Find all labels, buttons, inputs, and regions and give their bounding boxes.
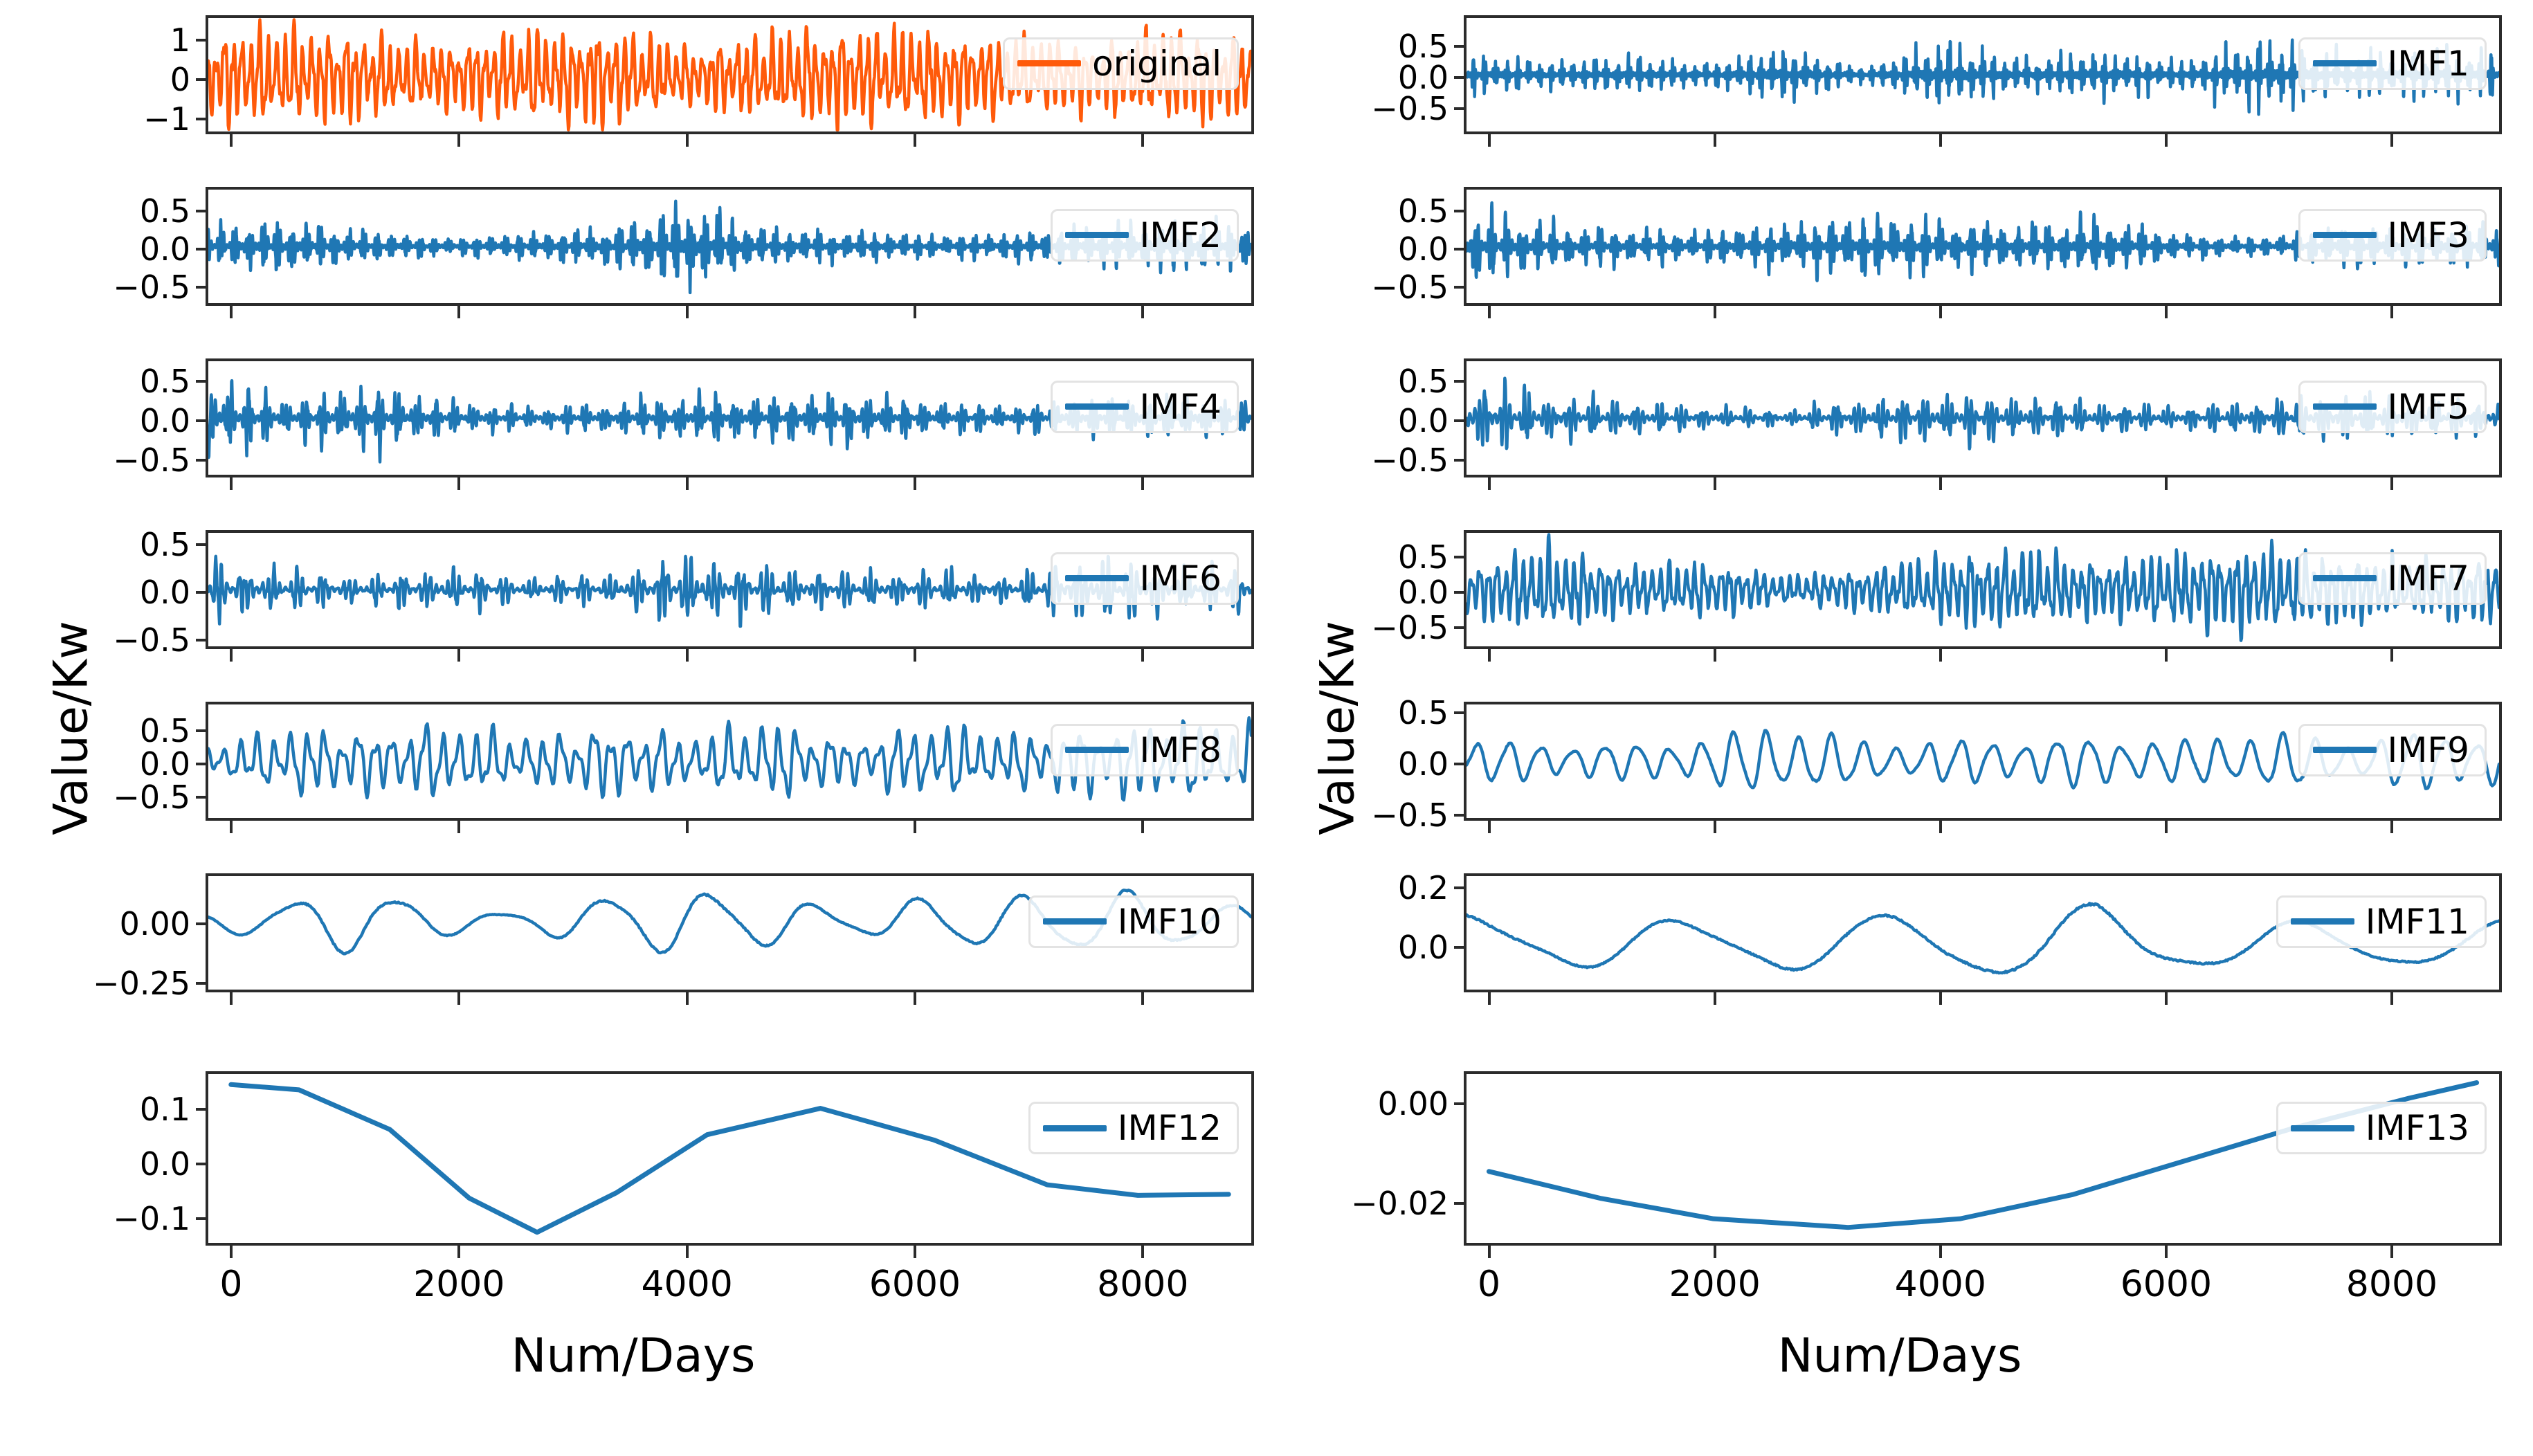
subplot-imf9: −0.50.00.5IMF9 bbox=[1464, 702, 2502, 821]
y-tick-mark bbox=[196, 210, 208, 212]
y-tick-mark bbox=[1454, 556, 1467, 558]
y-tick-mark bbox=[196, 796, 208, 799]
x-tick-mark bbox=[914, 646, 916, 662]
y-tick-label: −0.25 bbox=[93, 967, 208, 999]
legend-imf13[interactable]: IMF13 bbox=[2276, 1102, 2487, 1154]
legend-imf8[interactable]: IMF8 bbox=[1051, 724, 1239, 776]
y-tick-mark bbox=[1454, 591, 1467, 594]
y-tick-mark bbox=[196, 1217, 208, 1220]
x-tick-label: 8000 bbox=[1097, 1264, 1188, 1305]
y-tick-label: −0.5 bbox=[113, 781, 208, 813]
x-tick-label: 6000 bbox=[2121, 1264, 2212, 1305]
subplot-imf12: −0.10.00.102000400060008000IMF12 bbox=[206, 1071, 1254, 1246]
subplot-imf13: −0.020.0002000400060008000IMF13 bbox=[1464, 1071, 2502, 1246]
y-tick-label: −0.5 bbox=[113, 271, 208, 303]
x-tick-label: 0 bbox=[1478, 1264, 1500, 1305]
legend-label: IMF9 bbox=[2388, 733, 2469, 767]
legend-imf6[interactable]: IMF6 bbox=[1051, 552, 1239, 605]
x-tick-label: 2000 bbox=[1669, 1264, 1761, 1305]
x-tick-mark bbox=[1488, 475, 1491, 490]
y-tick-mark bbox=[196, 419, 208, 422]
y-tick-mark bbox=[196, 286, 208, 289]
plot-area-imf12 bbox=[208, 1074, 1251, 1243]
y-axis-label-right: Value/Kw bbox=[1310, 621, 1365, 835]
subplot-imf10: −0.250.00IMF10 bbox=[206, 873, 1254, 992]
x-tick-mark bbox=[914, 131, 916, 147]
legend-line-swatch bbox=[1065, 575, 1129, 581]
y-tick-mark bbox=[196, 591, 208, 594]
subplot-original: −101original bbox=[206, 15, 1254, 134]
subplot-imf6: −0.50.00.5IMF6 bbox=[206, 530, 1254, 649]
y-tick-label: 0.00 bbox=[120, 908, 208, 940]
legend-imf10[interactable]: IMF10 bbox=[1028, 895, 1239, 948]
legend-original[interactable]: original bbox=[1003, 37, 1239, 90]
x-tick-mark bbox=[686, 1243, 689, 1258]
x-tick-mark bbox=[1939, 990, 1942, 1005]
y-tick-mark bbox=[1454, 1102, 1467, 1105]
plot-area-imf13 bbox=[1467, 1074, 2499, 1243]
subplot-imf7: −0.50.00.5IMF7 bbox=[1464, 530, 2502, 649]
x-tick-mark bbox=[1141, 131, 1144, 147]
y-tick-mark bbox=[196, 118, 208, 120]
legend-line-swatch bbox=[1017, 60, 1081, 66]
y-tick-mark bbox=[1454, 711, 1467, 714]
x-tick-label: 2000 bbox=[413, 1264, 505, 1305]
y-tick-mark bbox=[1454, 45, 1467, 48]
y-tick-label: −0.5 bbox=[1371, 799, 1467, 831]
y-tick-mark bbox=[196, 639, 208, 641]
y-tick-mark bbox=[196, 729, 208, 732]
x-tick-mark bbox=[686, 646, 689, 662]
x-tick-mark bbox=[1141, 1243, 1144, 1258]
legend-imf3[interactable]: IMF3 bbox=[2298, 209, 2487, 262]
x-tick-mark bbox=[1141, 475, 1144, 490]
x-tick-mark bbox=[457, 131, 460, 147]
y-tick-mark bbox=[1454, 107, 1467, 110]
legend-label: IMF10 bbox=[1118, 904, 1222, 939]
x-tick-mark bbox=[1714, 990, 1716, 1005]
y-tick-mark bbox=[1454, 1202, 1467, 1205]
x-tick-mark bbox=[1488, 131, 1491, 147]
x-tick-mark bbox=[1488, 990, 1491, 1005]
x-tick-mark bbox=[1714, 303, 1716, 318]
x-tick-mark bbox=[1939, 475, 1942, 490]
legend-line-swatch bbox=[2313, 232, 2377, 238]
y-tick-mark bbox=[196, 380, 208, 383]
y-tick-mark bbox=[1454, 419, 1467, 422]
legend-imf9[interactable]: IMF9 bbox=[2298, 724, 2487, 776]
y-tick-mark bbox=[1454, 286, 1467, 289]
legend-imf1[interactable]: IMF1 bbox=[2298, 37, 2487, 90]
y-tick-mark bbox=[196, 459, 208, 462]
x-tick-mark bbox=[686, 818, 689, 833]
x-tick-mark bbox=[457, 475, 460, 490]
legend-label: IMF6 bbox=[1140, 561, 1222, 596]
x-tick-mark bbox=[2165, 818, 2168, 833]
y-tick-mark bbox=[1454, 814, 1467, 817]
x-tick-mark bbox=[457, 1243, 460, 1258]
x-tick-label: 6000 bbox=[869, 1264, 961, 1305]
legend-label: IMF11 bbox=[2366, 904, 2469, 939]
y-tick-mark bbox=[1454, 459, 1467, 462]
y-tick-mark bbox=[196, 1163, 208, 1165]
x-axis-label-left: Num/Days bbox=[0, 1329, 1266, 1383]
x-axis-label-right: Num/Days bbox=[1266, 1329, 2533, 1383]
subplot-imf2: −0.50.00.5IMF2 bbox=[206, 187, 1254, 306]
x-tick-mark bbox=[1939, 818, 1942, 833]
legend-label: IMF3 bbox=[2388, 218, 2469, 253]
x-tick-mark bbox=[230, 131, 233, 147]
x-tick-mark bbox=[230, 818, 233, 833]
y-tick-mark bbox=[196, 763, 208, 765]
y-tick-mark bbox=[1454, 946, 1467, 949]
x-tick-mark bbox=[2390, 990, 2393, 1005]
legend-line-swatch bbox=[2313, 747, 2377, 753]
legend-imf5[interactable]: IMF5 bbox=[2298, 381, 2487, 433]
x-tick-label: 8000 bbox=[2346, 1264, 2437, 1305]
subplot-imf3: −0.50.00.5IMF3 bbox=[1464, 187, 2502, 306]
x-tick-mark bbox=[2390, 646, 2393, 662]
x-tick-mark bbox=[230, 646, 233, 662]
y-tick-label: −0.5 bbox=[1371, 444, 1467, 476]
legend-label: IMF13 bbox=[2366, 1111, 2469, 1145]
legend-label: IMF4 bbox=[1140, 390, 1222, 424]
x-tick-mark bbox=[230, 1243, 233, 1258]
x-tick-mark bbox=[686, 990, 689, 1005]
legend-line-swatch bbox=[1065, 747, 1129, 753]
y-tick-mark bbox=[1454, 210, 1467, 212]
x-tick-mark bbox=[1714, 131, 1716, 147]
y-tick-mark bbox=[196, 543, 208, 546]
y-tick-label: 0.00 bbox=[1378, 1088, 1467, 1120]
y-tick-mark bbox=[1454, 763, 1467, 765]
x-tick-mark bbox=[2165, 1243, 2168, 1258]
legend-imf7[interactable]: IMF7 bbox=[2298, 552, 2487, 605]
y-tick-mark bbox=[1454, 380, 1467, 383]
x-tick-mark bbox=[1488, 303, 1491, 318]
x-tick-mark bbox=[914, 818, 916, 833]
legend-line-swatch bbox=[2313, 60, 2377, 66]
x-tick-mark bbox=[1141, 818, 1144, 833]
y-tick-mark bbox=[196, 39, 208, 42]
x-tick-label: 4000 bbox=[1895, 1264, 1986, 1305]
x-tick-mark bbox=[457, 818, 460, 833]
x-tick-mark bbox=[230, 475, 233, 490]
x-tick-mark bbox=[2165, 131, 2168, 147]
x-tick-mark bbox=[2390, 131, 2393, 147]
x-tick-mark bbox=[914, 475, 916, 490]
y-tick-label: −0.02 bbox=[1351, 1187, 1467, 1219]
legend-imf2[interactable]: IMF2 bbox=[1051, 209, 1239, 262]
x-tick-mark bbox=[2390, 303, 2393, 318]
y-tick-mark bbox=[196, 248, 208, 251]
x-tick-mark bbox=[2165, 303, 2168, 318]
legend-imf4[interactable]: IMF4 bbox=[1051, 381, 1239, 433]
x-tick-mark bbox=[914, 1243, 916, 1258]
subplot-imf5: −0.50.00.5IMF5 bbox=[1464, 358, 2502, 477]
emd-decomposition-figure: Value/Kw Num/Days Value/Kw Num/Days −101… bbox=[0, 0, 2533, 1456]
x-tick-mark bbox=[1141, 990, 1144, 1005]
y-tick-mark bbox=[1454, 76, 1467, 79]
x-tick-mark bbox=[1141, 303, 1144, 318]
x-tick-mark bbox=[1714, 1243, 1716, 1258]
y-tick-label: −0.5 bbox=[1371, 612, 1467, 644]
x-tick-mark bbox=[686, 131, 689, 147]
y-tick-mark bbox=[1454, 626, 1467, 629]
x-tick-mark bbox=[686, 303, 689, 318]
x-tick-mark bbox=[1939, 303, 1942, 318]
x-tick-mark bbox=[2165, 646, 2168, 662]
x-tick-mark bbox=[1939, 131, 1942, 147]
y-tick-mark bbox=[1454, 248, 1467, 251]
y-tick-label: −0.5 bbox=[1371, 93, 1467, 125]
y-tick-label: −0.5 bbox=[1371, 271, 1467, 303]
x-tick-label: 0 bbox=[219, 1264, 242, 1305]
legend-label: IMF8 bbox=[1140, 733, 1222, 767]
legend-line-swatch bbox=[2313, 403, 2377, 410]
legend-label: IMF12 bbox=[1118, 1111, 1222, 1145]
subplot-imf8: −0.50.00.5IMF8 bbox=[206, 702, 1254, 821]
y-tick-mark bbox=[1454, 886, 1467, 889]
x-tick-mark bbox=[1488, 1243, 1491, 1258]
x-tick-mark bbox=[1939, 1243, 1942, 1258]
legend-label: original bbox=[1092, 46, 1222, 81]
x-tick-mark bbox=[457, 303, 460, 318]
legend-line-swatch bbox=[1065, 403, 1129, 410]
x-tick-mark bbox=[2390, 1243, 2393, 1258]
legend-label: IMF1 bbox=[2388, 46, 2469, 81]
legend-line-swatch bbox=[2291, 1125, 2354, 1131]
subplot-imf1: −0.50.00.5IMF1 bbox=[1464, 15, 2502, 134]
x-tick-mark bbox=[1939, 646, 1942, 662]
x-tick-mark bbox=[2390, 475, 2393, 490]
y-tick-mark bbox=[196, 982, 208, 985]
x-tick-mark bbox=[1714, 818, 1716, 833]
subplot-imf11: 0.00.2IMF11 bbox=[1464, 873, 2502, 992]
legend-line-swatch bbox=[1043, 918, 1107, 925]
y-tick-mark bbox=[196, 1108, 208, 1111]
x-tick-mark bbox=[2165, 475, 2168, 490]
x-tick-mark bbox=[686, 475, 689, 490]
x-tick-mark bbox=[1141, 646, 1144, 662]
legend-line-swatch bbox=[1043, 1125, 1107, 1131]
x-tick-mark bbox=[914, 303, 916, 318]
legend-label: IMF7 bbox=[2388, 561, 2469, 596]
legend-line-swatch bbox=[1065, 232, 1129, 238]
x-tick-mark bbox=[230, 303, 233, 318]
x-tick-mark bbox=[1488, 818, 1491, 833]
y-tick-label: −0.5 bbox=[113, 444, 208, 476]
legend-line-swatch bbox=[2313, 575, 2377, 581]
x-tick-mark bbox=[2165, 990, 2168, 1005]
y-tick-label: −0.1 bbox=[113, 1203, 208, 1235]
x-tick-mark bbox=[1714, 646, 1716, 662]
x-tick-label: 4000 bbox=[641, 1264, 732, 1305]
legend-label: IMF2 bbox=[1140, 218, 1222, 253]
x-tick-mark bbox=[1488, 646, 1491, 662]
legend-line-swatch bbox=[2291, 918, 2354, 925]
x-tick-mark bbox=[457, 990, 460, 1005]
x-tick-mark bbox=[914, 990, 916, 1005]
y-tick-mark bbox=[196, 922, 208, 925]
x-tick-mark bbox=[457, 646, 460, 662]
x-tick-mark bbox=[230, 990, 233, 1005]
legend-imf12[interactable]: IMF12 bbox=[1028, 1102, 1239, 1154]
subplot-imf4: −0.50.00.5IMF4 bbox=[206, 358, 1254, 477]
legend-imf11[interactable]: IMF11 bbox=[2276, 895, 2487, 948]
x-tick-mark bbox=[1714, 475, 1716, 490]
y-tick-label: −0.5 bbox=[113, 624, 208, 656]
legend-label: IMF5 bbox=[2388, 390, 2469, 424]
y-tick-mark bbox=[196, 78, 208, 81]
x-tick-mark bbox=[2390, 818, 2393, 833]
y-axis-label-left: Value/Kw bbox=[44, 621, 98, 835]
